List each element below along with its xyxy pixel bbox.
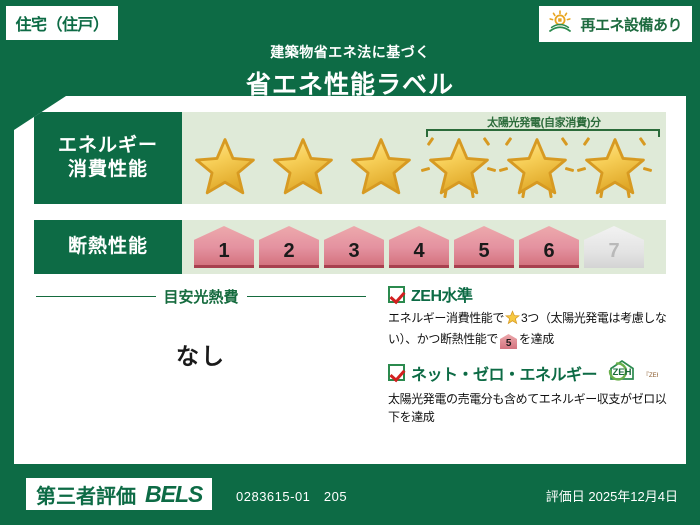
zeh-standard-header: ZEH水準 bbox=[388, 282, 672, 306]
energy-label-line2: 消費性能 bbox=[68, 158, 148, 182]
star-5 bbox=[498, 134, 576, 200]
star-6 bbox=[576, 134, 654, 200]
star-3 bbox=[342, 134, 420, 200]
grade-number: 7 bbox=[608, 240, 619, 268]
insulation-performance-row: 断熱性能 1234567 bbox=[34, 220, 666, 274]
insulation-grade-4: 4 bbox=[389, 226, 449, 268]
house-type-badge: 住宅（住戸） bbox=[6, 6, 118, 40]
star-1 bbox=[186, 134, 264, 200]
star-4 bbox=[420, 134, 498, 200]
insulation-grade-1: 1 bbox=[194, 226, 254, 268]
grade-number: 1 bbox=[218, 240, 229, 268]
insulation-grade-6: 6 bbox=[519, 226, 579, 268]
grade-number: 2 bbox=[283, 240, 294, 268]
label-title-block: 建築物省エネ法に基づく 省エネ性能ラベル bbox=[0, 42, 700, 101]
grade-number: 6 bbox=[543, 240, 554, 268]
bels-registration-number: 0283615-01 205 bbox=[236, 486, 347, 505]
energy-label-line1: エネルギー bbox=[58, 134, 158, 158]
star-icon bbox=[505, 310, 520, 330]
checkmark-icon bbox=[388, 364, 405, 381]
grade-number: 3 bbox=[348, 240, 359, 268]
grade-number: 4 bbox=[413, 240, 424, 268]
insulation-grade-7: 7 bbox=[584, 226, 644, 268]
insulation-rating-track: 1234567 bbox=[182, 220, 666, 274]
main-panel: エネルギー 消費性能 太陽光発電(自家消費)分 断熱性能 1234567 目安光… bbox=[14, 96, 686, 464]
zeh-item-net-zero: ネット・ゼロ・エネルギー ZEH 『ZEH』 太陽光発電の売電分も含めてエネルギ… bbox=[388, 358, 672, 426]
insulation-label-text: 断熱性能 bbox=[68, 235, 148, 259]
insulation-grade-icon: 5 bbox=[500, 334, 517, 349]
energy-rating-track: 太陽光発電(自家消費)分 bbox=[182, 112, 666, 204]
utility-cost-block: 目安光熱費 なし bbox=[36, 286, 366, 371]
house-type-text: 住宅（住戸） bbox=[15, 11, 108, 35]
third-party-evaluation-text: 第三者評価 bbox=[36, 480, 136, 509]
insulation-grade-2: 2 bbox=[259, 226, 319, 268]
title-subtitle: 建築物省エネ法に基づく bbox=[0, 42, 700, 62]
renewable-badge-text: 再エネ設備あり bbox=[580, 14, 682, 35]
zeh-criteria-block: ZEH水準 エネルギー消費性能で3つ（太陽光発電は考慮しない）、かつ断熱性能で5… bbox=[388, 282, 672, 435]
svg-text:『ZEH』: 『ZEH』 bbox=[643, 371, 658, 379]
zeh-standard-title: ZEH水準 bbox=[411, 282, 473, 306]
bels-logo-text: BELS bbox=[145, 481, 202, 508]
svg-text:ZEH: ZEH bbox=[613, 367, 632, 378]
evaluation-date: 評価日 2025年12月4日 bbox=[546, 486, 678, 505]
solar-bracket-label: 太陽光発電(自家消費)分 bbox=[422, 114, 666, 130]
utility-cost-heading: 目安光熱費 bbox=[36, 286, 366, 307]
insulation-performance-label-box: 断熱性能 bbox=[34, 220, 182, 274]
energy-performance-row: エネルギー 消費性能 太陽光発電(自家消費)分 bbox=[34, 112, 666, 204]
insulation-grade-3: 3 bbox=[324, 226, 384, 268]
label-footer: 第三者評価 BELS 0283615-01 205 評価日 2025年12月4日 bbox=[0, 470, 700, 525]
page-title: 省エネ性能ラベル bbox=[0, 65, 700, 101]
energy-performance-label: 住宅（住戸） 再エネ設備あり 建築物省エネ法に基づく 省エネ性能ラベル bbox=[0, 0, 700, 525]
zeh-net-zero-title: ネット・ゼロ・エネルギー bbox=[411, 361, 597, 385]
grade-number: 5 bbox=[478, 240, 489, 268]
zeh-net-zero-header: ネット・ゼロ・エネルギー ZEH 『ZEH』 bbox=[388, 358, 672, 387]
heading-rule-left bbox=[36, 296, 156, 297]
zeh-logo-icon: ZEH 『ZEH』 bbox=[606, 358, 658, 387]
energy-performance-label-box: エネルギー 消費性能 bbox=[34, 112, 182, 204]
zeh-net-zero-description: 太陽光発電の売電分も含めてエネルギー収支がゼロ以下を達成 bbox=[388, 390, 672, 426]
utility-cost-heading-text: 目安光熱費 bbox=[164, 286, 239, 307]
checkmark-icon bbox=[388, 286, 405, 303]
insulation-grade-5: 5 bbox=[454, 226, 514, 268]
bels-badge: 第三者評価 BELS bbox=[26, 478, 212, 510]
zeh-desc-part3: を達成 bbox=[519, 332, 554, 346]
zeh-item-standard: ZEH水準 エネルギー消費性能で3つ（太陽光発電は考慮しない）、かつ断熱性能で5… bbox=[388, 282, 672, 349]
utility-cost-value: なし bbox=[36, 337, 366, 371]
zeh-standard-description: エネルギー消費性能で3つ（太陽光発電は考慮しない）、かつ断熱性能で5を達成 bbox=[388, 309, 672, 349]
star-2 bbox=[264, 134, 342, 200]
zeh-desc-part1: エネルギー消費性能で bbox=[388, 311, 504, 325]
heading-rule-right bbox=[247, 296, 367, 297]
sun-solar-icon bbox=[547, 10, 573, 39]
insulation-grade-list: 1234567 bbox=[194, 226, 644, 268]
renewable-equipment-badge: 再エネ設備あり bbox=[539, 6, 692, 42]
star-rating bbox=[186, 134, 654, 200]
